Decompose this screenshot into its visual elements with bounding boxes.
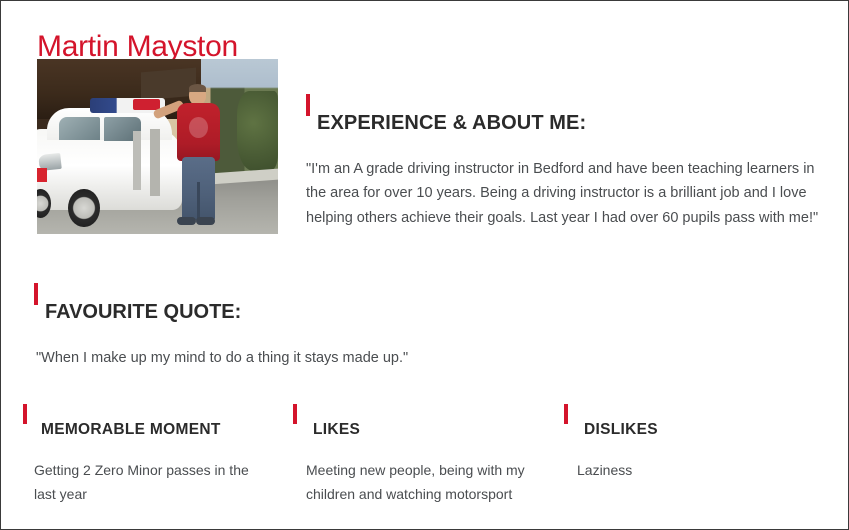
instructor-photo — [37, 59, 278, 234]
car-door-seam — [133, 131, 140, 191]
car-roof-sign-logo — [133, 99, 160, 110]
instructor-profile-card: Martin Mayston — [0, 0, 849, 530]
instructor-shoe-right — [196, 217, 215, 226]
house-porch-roof — [141, 67, 196, 100]
likes-body: Meeting new people, being with my childr… — [306, 458, 531, 506]
favourite-quote-accent-bar — [34, 283, 38, 305]
hedge — [237, 91, 278, 172]
photo-background — [37, 59, 278, 234]
instructor-hair — [189, 84, 206, 93]
experience-body: "I'm an A grade driving instructor in Be… — [306, 157, 822, 231]
car-body — [37, 129, 182, 210]
dislikes-body: Laziness — [577, 458, 807, 482]
favourite-quote-body: "When I make up my mind to do a thing it… — [36, 346, 636, 370]
experience-heading: EXPERIENCE & ABOUT ME: — [317, 110, 586, 136]
l-plate — [37, 168, 47, 182]
instructor-shoe-left — [177, 217, 196, 226]
favourite-quote-heading: FAVOURITE QUOTE: — [45, 299, 241, 325]
instructor-shirt-print — [189, 117, 208, 138]
likes-accent-bar — [293, 404, 297, 424]
dislikes-heading: DISLIKES — [584, 419, 658, 441]
memorable-moment-heading: MEMORABLE MOMENT — [41, 419, 221, 441]
memorable-moment-accent-bar — [23, 404, 27, 424]
car-door-seam-2 — [150, 129, 160, 196]
car-wheel-front — [68, 189, 99, 228]
experience-accent-bar — [306, 94, 310, 116]
car-window-rear — [59, 117, 100, 140]
instructor-jeans-seam — [197, 182, 200, 221]
likes-heading: LIKES — [313, 419, 360, 441]
dislikes-accent-bar — [564, 404, 568, 424]
memorable-moment-body: Getting 2 Zero Minor passes in the last … — [34, 458, 274, 506]
